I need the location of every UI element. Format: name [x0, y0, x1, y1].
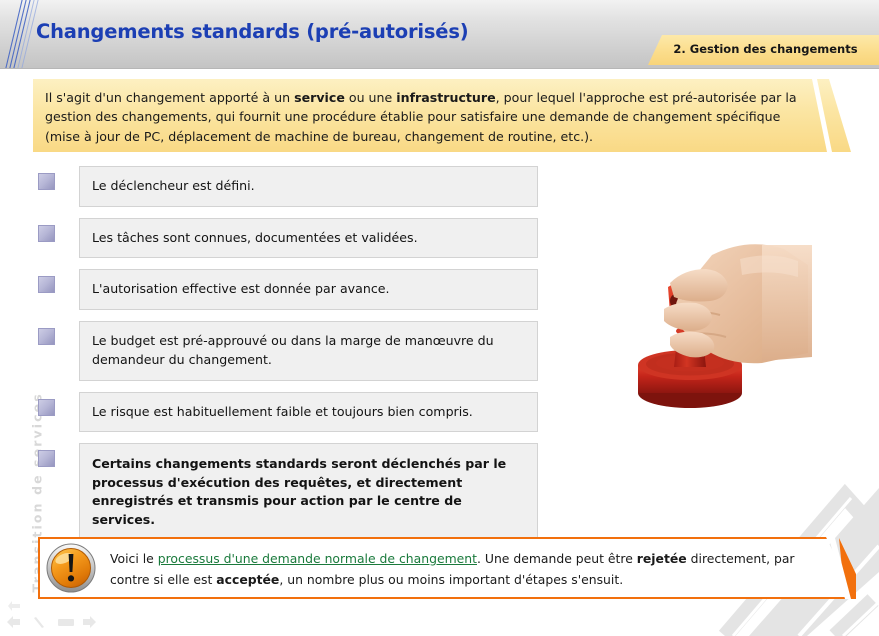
intro-text: Il s'agit d'un changement apporté à un s… — [45, 88, 807, 146]
checklist-item: Le risque est habituellement faible et t… — [38, 392, 538, 433]
info-alert-corner-accent — [825, 538, 856, 599]
info-alert-text-emphasis: rejetée — [637, 551, 687, 566]
checklist-item: Le budget est pré-approuvé ou dans la ma… — [38, 321, 538, 381]
checklist-item-text: Le budget est pré-approuvé ou dans la ma… — [79, 321, 538, 381]
checklist-item-text: Les tâches sont connues, documentées et … — [79, 218, 538, 259]
bullet-square-icon — [38, 225, 55, 242]
checklist-item: Les tâches sont connues, documentées et … — [38, 218, 538, 259]
bullet-square-icon — [38, 450, 55, 467]
checklist-item-text: L'autorisation effective est donnée par … — [79, 269, 538, 310]
checklist: Le déclencheur est défini.Les tâches son… — [38, 166, 538, 553]
warning-exclamation-icon — [46, 543, 96, 593]
checklist-item: Certains changements standards seront dé… — [38, 443, 538, 542]
info-alert-text-segment: Voici le — [110, 551, 158, 566]
header-divider — [0, 68, 879, 69]
info-alert-text-segment: , un nombre plus ou moins important d'ét… — [279, 572, 623, 587]
slide-root: Changements standards (pré-autorisés) 2.… — [0, 0, 879, 636]
rail-arrow-icon — [7, 597, 21, 609]
normal-change-process-link[interactable]: processus d'une demande normale de chang… — [158, 551, 477, 566]
bullet-square-icon — [38, 399, 55, 416]
hand-holding-red-rubber-stamp-image — [612, 225, 877, 425]
info-alert-text-segment: . Une demande peut être — [477, 551, 637, 566]
bullet-square-icon — [38, 328, 55, 345]
intro-text-segment: service — [294, 90, 345, 105]
checklist-item-text: Certains changements standards seront dé… — [79, 443, 538, 542]
footer-navigation[interactable] — [4, 612, 114, 632]
intro-text-segment: infrastructure — [396, 90, 495, 105]
intro-callout: Il s'agit d'un changement apporté à un s… — [33, 79, 851, 152]
info-alert-text-emphasis: acceptée — [216, 572, 279, 587]
intro-text-segment: Il s'agit d'un changement apporté à un — [45, 90, 294, 105]
pen-icon — [34, 617, 44, 628]
previous-arrow-icon — [7, 616, 20, 628]
info-alert: Voici le processus d'une demande normale… — [38, 537, 856, 599]
menu-icon — [58, 619, 74, 626]
section-tab-label: 2. Gestion des changements — [652, 42, 879, 56]
bullet-square-icon — [38, 173, 55, 190]
page-title: Changements standards (pré-autorisés) — [36, 20, 468, 43]
bullet-square-icon — [38, 276, 55, 293]
checklist-item-text: Le risque est habituellement faible et t… — [79, 392, 538, 433]
checklist-item: Le déclencheur est défini. — [38, 166, 538, 207]
next-arrow-icon — [83, 616, 96, 628]
intro-text-segment: ou une — [345, 90, 396, 105]
info-alert-text: Voici le processus d'une demande normale… — [110, 548, 810, 590]
checklist-item-text: Le déclencheur est défini. — [79, 166, 538, 207]
checklist-item: L'autorisation effective est donnée par … — [38, 269, 538, 310]
